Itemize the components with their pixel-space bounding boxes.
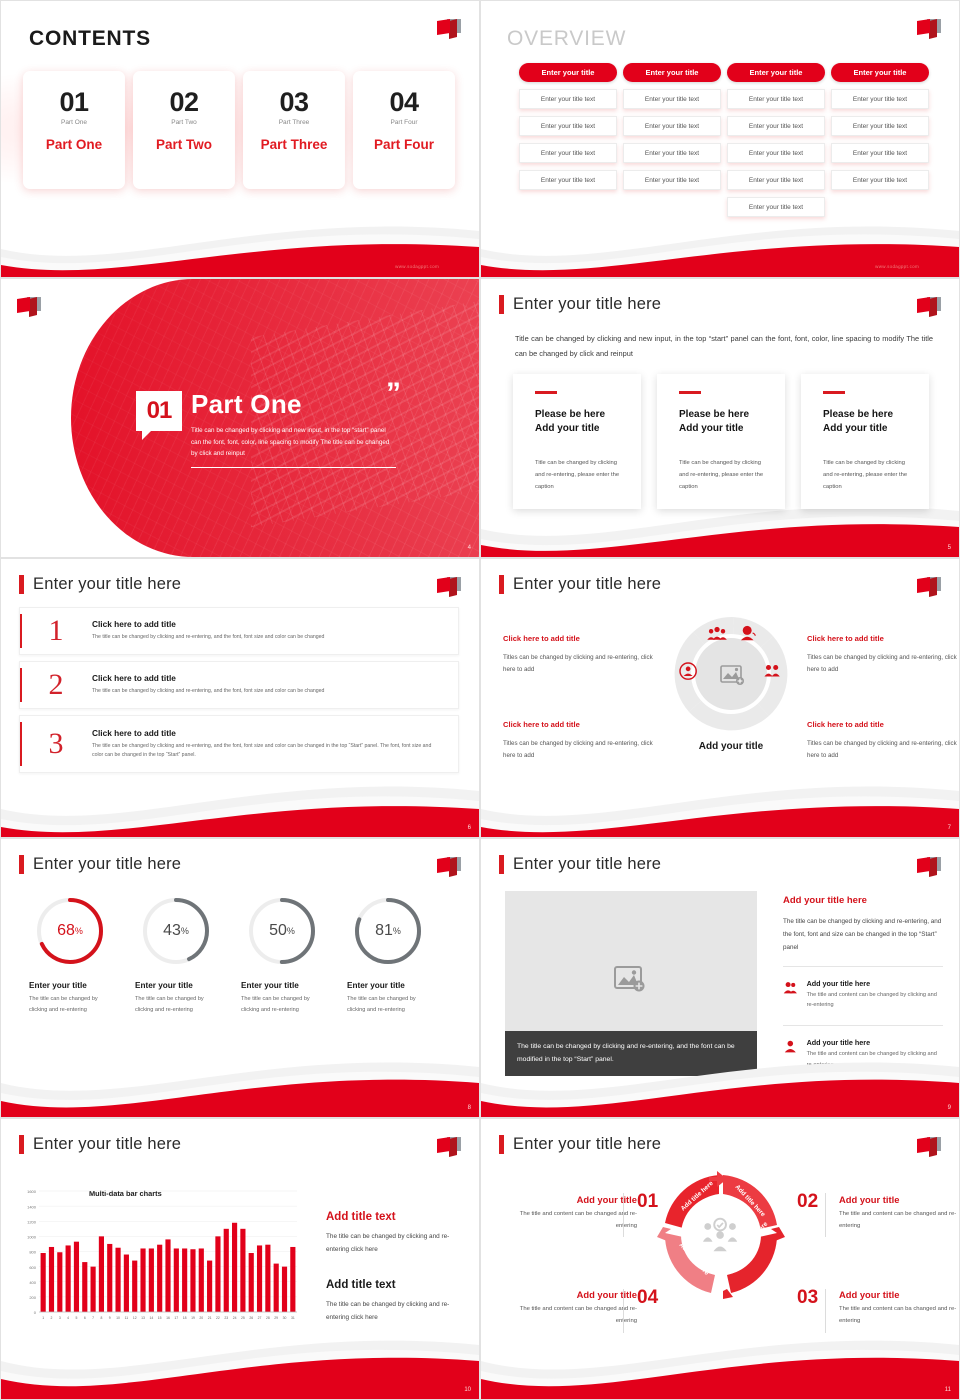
overview-item[interactable]: Enter your title text bbox=[831, 143, 929, 163]
svg-text:2: 2 bbox=[51, 1316, 53, 1320]
page-number: 6 bbox=[468, 825, 471, 831]
slide-title-row: Enter your title here bbox=[499, 295, 661, 314]
overview-item[interactable]: Enter your title text bbox=[727, 170, 825, 190]
svg-text:8: 8 bbox=[100, 1316, 102, 1320]
contents-card[interactable]: 04 Part Four Part Four bbox=[353, 71, 455, 189]
slide-title-row: Enter your title here bbox=[19, 575, 181, 594]
svg-text:800: 800 bbox=[29, 1250, 36, 1255]
svg-text:18: 18 bbox=[183, 1316, 187, 1320]
card-subtitle: Part Two bbox=[171, 119, 197, 126]
card-heading-line1: Please be here bbox=[535, 408, 625, 423]
slide-radial-diagram[interactable]: Enter your title here Click here to add … bbox=[480, 558, 960, 838]
row-body: The title can be changed by clicking and… bbox=[92, 687, 446, 696]
page-title: CONTENTS bbox=[29, 27, 151, 51]
side-heading-1: Add title text bbox=[326, 1211, 466, 1223]
card-accent-dash bbox=[823, 391, 845, 394]
column-title-pill[interactable]: Enter your title bbox=[623, 63, 721, 82]
block-body: Titles can be changed by clicking and re… bbox=[503, 652, 655, 677]
stat-title: Enter your title bbox=[123, 981, 229, 990]
item-body: The title and content can be changed by … bbox=[807, 990, 943, 1011]
item-heading: Add your title bbox=[839, 1289, 959, 1300]
page-title: Enter your title here bbox=[513, 855, 661, 874]
slide-donut-stats[interactable]: Enter your title here 68% Enter your tit… bbox=[0, 838, 480, 1118]
donut-value: 68% bbox=[34, 895, 106, 967]
svg-text:1400: 1400 bbox=[27, 1204, 37, 1209]
slide-title-row: Enter your title here bbox=[499, 855, 661, 874]
divider bbox=[783, 1025, 943, 1026]
radial-text-block-top-left[interactable]: Click here to add title Titles can be ch… bbox=[503, 631, 655, 677]
side-heading-2: Add title text bbox=[326, 1279, 466, 1291]
block-heading: Click here to add title bbox=[807, 717, 959, 733]
overview-column: Enter your title Enter your title text E… bbox=[623, 63, 721, 217]
row-body: The title can be changed by clicking and… bbox=[92, 633, 446, 642]
lead-paragraph: Title can be changed by clicking and new… bbox=[515, 331, 933, 361]
card-subtitle: Part Three bbox=[279, 119, 310, 126]
card-body: Title can be changed by clicking and re-… bbox=[823, 457, 913, 494]
svg-text:12: 12 bbox=[133, 1316, 137, 1320]
svg-text:31: 31 bbox=[291, 1316, 295, 1320]
svg-text:17: 17 bbox=[174, 1316, 178, 1320]
flag-logo-icon bbox=[15, 295, 45, 321]
svg-text:6: 6 bbox=[84, 1316, 86, 1320]
title-accent-bar bbox=[499, 1135, 504, 1154]
donut-ring: 43% bbox=[140, 895, 212, 967]
svg-text:21: 21 bbox=[208, 1316, 212, 1320]
title-accent-bar bbox=[499, 575, 504, 594]
item-heading: Add your title here bbox=[807, 1038, 943, 1047]
slide-image-and-list[interactable]: Enter your title here The title can be c… bbox=[480, 838, 960, 1118]
svg-text:10: 10 bbox=[116, 1316, 120, 1320]
stat-title: Enter your title bbox=[335, 981, 441, 990]
card-list: Please be here Add your title Title can … bbox=[513, 374, 929, 509]
stat-title: Enter your title bbox=[229, 981, 335, 990]
numbered-row-list: 1 Click here to add title The title can … bbox=[19, 607, 459, 779]
donut-ring: 68% bbox=[34, 895, 106, 967]
svg-text:25: 25 bbox=[241, 1316, 245, 1320]
numbered-row[interactable]: 1 Click here to add title The title can … bbox=[19, 607, 459, 655]
card-accent-dash bbox=[679, 391, 701, 394]
flag-logo-icon bbox=[435, 17, 465, 43]
group-people-icon bbox=[707, 627, 727, 640]
item-body: The title and content can be changed and… bbox=[517, 1304, 637, 1327]
separator bbox=[623, 1289, 624, 1333]
card-heading-line1: Please be here bbox=[823, 408, 913, 423]
overview-item[interactable]: Enter your title text bbox=[831, 170, 929, 190]
donut-stat[interactable]: 43% Enter your title The title can be ch… bbox=[123, 895, 229, 1016]
svg-text:1000: 1000 bbox=[27, 1235, 37, 1240]
svg-text:3: 3 bbox=[59, 1316, 61, 1320]
svg-text:4: 4 bbox=[67, 1316, 69, 1320]
list-item[interactable]: Add your title here The title and conten… bbox=[783, 1035, 943, 1073]
radial-text-block-bottom-right[interactable]: Click here to add title Titles can be ch… bbox=[807, 717, 959, 763]
svg-text:23: 23 bbox=[224, 1316, 228, 1320]
radial-segment-icons bbox=[670, 613, 792, 735]
overview-item[interactable]: Enter your title text bbox=[519, 170, 617, 190]
quote-mark-icon: ” bbox=[386, 383, 401, 404]
overview-item[interactable]: Enter your title text bbox=[727, 143, 825, 163]
donut-stat[interactable]: 50% Enter your title The title can be ch… bbox=[229, 895, 335, 1016]
block-heading: Click here to add title bbox=[503, 631, 655, 647]
title-accent-bar bbox=[19, 855, 24, 874]
svg-text:5: 5 bbox=[76, 1316, 78, 1320]
slide-overview[interactable]: OVERVIEW Enter your title Enter your tit… bbox=[480, 0, 960, 278]
feature-card[interactable]: Please be here Add your title Title can … bbox=[513, 374, 641, 509]
page-number: 7 bbox=[948, 825, 951, 831]
person-circle-icon bbox=[680, 663, 696, 679]
cycle-item-03-text[interactable]: Add your title The title and content can… bbox=[839, 1289, 959, 1327]
svg-text:1: 1 bbox=[42, 1316, 44, 1320]
person-headset-icon bbox=[741, 626, 755, 640]
page-title: Enter your title here bbox=[33, 855, 181, 874]
page-number: 4 bbox=[468, 545, 471, 551]
row-heading: Click here to add title bbox=[92, 673, 446, 683]
column-title-pill[interactable]: Enter your title bbox=[519, 63, 617, 82]
slide-deck-contact-sheet: CONTENTS 01 Part One Part One 02 Part Tw… bbox=[0, 0, 960, 1400]
title-accent-bar bbox=[499, 295, 504, 314]
slide-contents[interactable]: CONTENTS 01 Part One Part One 02 Part Tw… bbox=[0, 0, 480, 278]
svg-text:13: 13 bbox=[141, 1316, 145, 1320]
item-body: The title and content can be changed and… bbox=[839, 1209, 959, 1232]
svg-text:22: 22 bbox=[216, 1316, 220, 1320]
svg-text:30: 30 bbox=[283, 1316, 287, 1320]
watermark-text: www.sodagppt.com bbox=[395, 264, 439, 269]
item-body: The title and content can ba changed and… bbox=[839, 1304, 959, 1327]
stat-desc: The title can be changed by clicking and… bbox=[123, 994, 229, 1016]
card-heading-line2: Add your title bbox=[823, 422, 913, 437]
card-accent-dash bbox=[535, 391, 557, 394]
overview-item[interactable]: Enter your title text bbox=[727, 116, 825, 136]
flag-logo-icon bbox=[435, 1135, 465, 1161]
overview-item[interactable]: Enter your title text bbox=[519, 116, 617, 136]
title-accent-bar bbox=[19, 1135, 24, 1154]
page-title: Enter your title here bbox=[33, 575, 181, 594]
block-body: Titles can be changed by clicking and re… bbox=[503, 738, 655, 763]
page-title: Enter your title here bbox=[513, 1135, 661, 1154]
svg-text:1600: 1600 bbox=[27, 1189, 37, 1194]
divider bbox=[783, 966, 943, 967]
radial-text-block-bottom-left[interactable]: Click here to add title Titles can be ch… bbox=[503, 717, 655, 763]
stat-title: Enter your title bbox=[17, 981, 123, 990]
page-title: Enter your title here bbox=[513, 575, 661, 594]
overview-item[interactable]: Enter your title text bbox=[623, 89, 721, 109]
donut-value: 81% bbox=[352, 895, 424, 967]
svg-text:24: 24 bbox=[233, 1316, 237, 1320]
overview-item[interactable]: Enter your title text bbox=[519, 89, 617, 109]
feature-card[interactable]: Please be here Add your title Title can … bbox=[801, 374, 929, 509]
row-number: 2 bbox=[20, 670, 92, 700]
slide-three-cards[interactable]: Enter your title here Title can be chang… bbox=[480, 278, 960, 558]
side-panel: Add your title here The title can be cha… bbox=[783, 895, 943, 1073]
two-people-icon bbox=[783, 979, 798, 996]
numbered-row[interactable]: 2 Click here to add title The title can … bbox=[19, 661, 459, 709]
row-number: 3 bbox=[20, 729, 92, 759]
page-number: 11 bbox=[945, 1387, 951, 1393]
card-number: 02 bbox=[169, 89, 198, 116]
row-heading: Click here to add title bbox=[92, 619, 446, 629]
cycle-item-04-text[interactable]: Add your title The title and content can… bbox=[517, 1289, 637, 1327]
slide-title-row: Enter your title here bbox=[19, 1135, 181, 1154]
watermark-text: www.sodagppt.com bbox=[875, 264, 919, 269]
svg-text:600: 600 bbox=[29, 1265, 36, 1270]
separator bbox=[623, 1193, 624, 1237]
separator bbox=[825, 1289, 826, 1333]
panel-heading: Add your title here bbox=[783, 895, 943, 906]
column-title-pill[interactable]: Enter your title bbox=[727, 63, 825, 82]
title-accent-bar bbox=[499, 855, 504, 874]
page-number: 10 bbox=[464, 1387, 471, 1393]
slide-title-row: Enter your title here bbox=[499, 1135, 661, 1154]
contents-card-list: 01 Part One Part One 02 Part Two Part Tw… bbox=[23, 71, 455, 189]
single-person-icon bbox=[783, 1038, 798, 1055]
donut-value: 43% bbox=[140, 895, 212, 967]
overview-item[interactable]: Enter your title text bbox=[831, 89, 929, 109]
separator bbox=[825, 1193, 826, 1237]
overview-column: Enter your title Enter your title text E… bbox=[727, 63, 825, 217]
slide-title-row: Enter your title here bbox=[19, 855, 181, 874]
item-body: The title and content can be changed and… bbox=[517, 1209, 637, 1232]
card-heading-line1: Please be here bbox=[679, 408, 769, 423]
overview-item[interactable]: Enter your title text bbox=[727, 89, 825, 109]
flag-logo-icon bbox=[915, 1135, 945, 1161]
overview-item[interactable]: Enter your title text bbox=[831, 116, 929, 136]
slide-title-row: Enter your title here bbox=[499, 575, 661, 594]
svg-text:1200: 1200 bbox=[27, 1219, 37, 1224]
diagram-caption: Add your title bbox=[671, 741, 791, 752]
item-heading: Add your title bbox=[517, 1289, 637, 1300]
donut-stat[interactable]: 68% Enter your title The title can be ch… bbox=[17, 895, 123, 1016]
svg-text:29: 29 bbox=[274, 1316, 278, 1320]
svg-text:0: 0 bbox=[34, 1310, 37, 1315]
cycle-arrow-diagram[interactable]: Add title here Add title here Add title … bbox=[653, 1167, 789, 1303]
overview-column-grid: Enter your title Enter your title text E… bbox=[519, 63, 929, 217]
title-accent-bar bbox=[19, 575, 24, 594]
cycle-number-03: 03 bbox=[797, 1287, 818, 1309]
contents-card[interactable]: 02 Part Two Part Two bbox=[133, 71, 235, 189]
wave-footer-decoration bbox=[481, 751, 959, 837]
svg-text:9: 9 bbox=[109, 1316, 111, 1320]
card-body: Title can be changed by clicking and re-… bbox=[679, 457, 769, 494]
item-heading: Add your title bbox=[517, 1194, 637, 1205]
column-title-pill[interactable]: Enter your title bbox=[831, 63, 929, 82]
stat-desc: The title can be changed by clicking and… bbox=[229, 994, 335, 1016]
overview-item[interactable]: Enter your title text bbox=[623, 116, 721, 136]
chart-side-text: Add title text The title can be changed … bbox=[326, 1211, 466, 1325]
overview-item[interactable]: Enter your title text bbox=[519, 143, 617, 163]
section-body-text: Title can be changed by clicking and new… bbox=[191, 425, 396, 460]
section-number-badge: 01 bbox=[136, 391, 182, 431]
overview-column: Enter your title Enter your title text E… bbox=[519, 63, 617, 217]
page-title: Enter your title here bbox=[513, 295, 661, 314]
block-heading: Click here to add title bbox=[807, 631, 959, 647]
image-caption: The title can be changed by clicking and… bbox=[505, 1031, 757, 1076]
card-body: Title can be changed by clicking and re-… bbox=[535, 457, 625, 494]
image-placeholder[interactable]: The title can be changed by clicking and… bbox=[505, 891, 757, 1076]
slide-section-divider[interactable]: 01 Part One ” Title can be changed by cl… bbox=[0, 278, 480, 558]
item-body: The title and content can be changed by … bbox=[807, 1049, 943, 1070]
side-body-1: The title can be changed by clicking and… bbox=[326, 1230, 466, 1257]
svg-text:11: 11 bbox=[125, 1316, 129, 1320]
numbered-row[interactable]: 3 Click here to add title The title can … bbox=[19, 715, 459, 773]
card-label: Part One bbox=[46, 137, 102, 152]
row-heading: Click here to add title bbox=[92, 728, 440, 738]
donut-stat[interactable]: 81% Enter your title The title can be ch… bbox=[335, 895, 441, 1016]
slide-cycle-diagram[interactable]: Enter your title here Add your title The… bbox=[480, 1118, 960, 1400]
block-body: Titles can be changed by clicking and re… bbox=[807, 738, 959, 763]
page-title: OVERVIEW bbox=[507, 27, 626, 51]
stat-desc: The title can be changed by clicking and… bbox=[17, 994, 123, 1016]
donut-value: 50% bbox=[246, 895, 318, 967]
row-number: 1 bbox=[20, 616, 92, 646]
row-body: The title can be changed by clicking and… bbox=[92, 742, 440, 760]
card-label: Part Three bbox=[261, 137, 328, 152]
two-people-icon bbox=[764, 665, 779, 677]
svg-text:15: 15 bbox=[158, 1316, 162, 1320]
flag-logo-icon bbox=[915, 855, 945, 881]
card-label: Part Two bbox=[156, 137, 212, 152]
cycle-number-02: 02 bbox=[797, 1191, 818, 1213]
overview-item[interactable]: Enter your title text bbox=[623, 143, 721, 163]
list-item[interactable]: Add your title here The title and conten… bbox=[783, 976, 943, 1014]
page-number: 9 bbox=[948, 1105, 951, 1111]
section-number: 01 bbox=[147, 397, 172, 425]
svg-text:200: 200 bbox=[29, 1295, 36, 1300]
item-heading: Add your title bbox=[839, 1194, 959, 1205]
stat-desc: The title can be changed by clicking and… bbox=[335, 994, 441, 1016]
page-number: 5 bbox=[948, 545, 951, 551]
svg-text:14: 14 bbox=[149, 1316, 153, 1320]
svg-text:16: 16 bbox=[166, 1316, 170, 1320]
card-subtitle: Part One bbox=[61, 119, 87, 126]
overview-item[interactable]: Enter your title text bbox=[623, 170, 721, 190]
flag-logo-icon bbox=[915, 575, 945, 601]
svg-text:27: 27 bbox=[258, 1316, 262, 1320]
side-body-2: The title can be changed by clicking and… bbox=[326, 1298, 466, 1325]
svg-text:19: 19 bbox=[191, 1316, 195, 1320]
page-number: 8 bbox=[468, 1105, 471, 1111]
bar-chart: 0200400600800100012001400160012345678910… bbox=[13, 1185, 303, 1330]
card-number: 01 bbox=[59, 89, 88, 116]
section-title: Part One bbox=[191, 389, 302, 420]
svg-text:26: 26 bbox=[249, 1316, 253, 1320]
image-placeholder-icon bbox=[615, 967, 645, 992]
item-heading: Add your title here bbox=[807, 979, 943, 988]
page-title: Enter your title here bbox=[33, 1135, 181, 1154]
feature-card[interactable]: Please be here Add your title Title can … bbox=[657, 374, 785, 509]
divider-rule bbox=[191, 467, 396, 468]
overview-column: Enter your title Enter your title text E… bbox=[831, 63, 929, 217]
donut-stat-list: 68% Enter your title The title can be ch… bbox=[17, 895, 441, 1016]
svg-text:7: 7 bbox=[92, 1316, 94, 1320]
svg-text:20: 20 bbox=[199, 1316, 203, 1320]
card-label: Part Four bbox=[374, 137, 434, 152]
radial-text-block-top-right[interactable]: Click here to add title Titles can be ch… bbox=[807, 631, 959, 677]
donut-ring: 81% bbox=[352, 895, 424, 967]
block-body: Titles can be changed by clicking and re… bbox=[807, 652, 959, 677]
cycle-item-01-text[interactable]: Add your title The title and content can… bbox=[517, 1194, 637, 1232]
card-heading-line2: Add your title bbox=[535, 422, 625, 437]
radial-diagram[interactable] bbox=[670, 613, 792, 735]
flag-logo-icon bbox=[435, 855, 465, 881]
donut-ring: 50% bbox=[246, 895, 318, 967]
contents-card[interactable]: 01 Part One Part One bbox=[23, 71, 125, 189]
card-subtitle: Part Four bbox=[390, 119, 417, 126]
cycle-item-02-text[interactable]: Add your title The title and content can… bbox=[839, 1194, 959, 1232]
flag-logo-icon bbox=[915, 295, 945, 321]
card-heading-line2: Add your title bbox=[679, 422, 769, 437]
contents-card[interactable]: 03 Part Three Part Three bbox=[243, 71, 345, 189]
svg-text:400: 400 bbox=[29, 1280, 36, 1285]
svg-text:28: 28 bbox=[266, 1316, 270, 1320]
card-number: 04 bbox=[389, 89, 418, 116]
card-number: 03 bbox=[279, 89, 308, 116]
panel-body: The title can be changed by clicking and… bbox=[783, 915, 943, 955]
slide-numbered-list[interactable]: Enter your title here 1 Click here to ad… bbox=[0, 558, 480, 838]
wave-footer-decoration bbox=[1, 1031, 479, 1117]
flag-logo-icon bbox=[915, 17, 945, 43]
overview-item[interactable]: Enter your title text bbox=[727, 197, 825, 217]
flag-logo-icon bbox=[435, 575, 465, 601]
slide-bar-chart[interactable]: Enter your title here Multi-data bar cha… bbox=[0, 1118, 480, 1400]
block-heading: Click here to add title bbox=[503, 717, 655, 733]
